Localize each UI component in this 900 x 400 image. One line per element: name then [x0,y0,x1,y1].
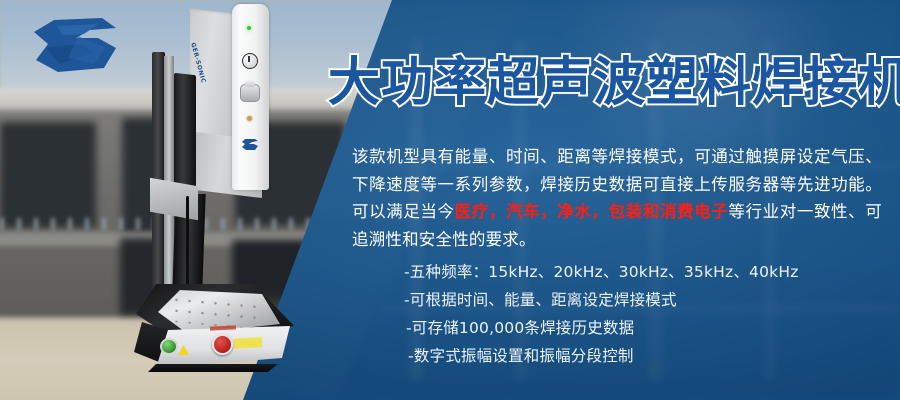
start-button[interactable] [160,338,178,355]
base-yellow-label [234,337,262,348]
machine-cable [186,196,189,296]
description-industries-highlight: 医疗，汽车，净水，包装和消费电子 [455,202,729,221]
list-item: -可根据时间、能量、距离设定焊接模式 [404,286,884,314]
product-description: 该款机型具有能量、时间、距离等焊接模式，可通过触摸屏设定气压、下降速度等一系列参… [352,143,882,253]
product-banner: GER-SONIC 大功率超声波塑料焊接机 大功率超声波塑料焊接机 [0,0,900,400]
ger-sonic-g-logo-icon-small [240,138,259,151]
machine-logo-badge [240,136,259,149]
list-item: -五种频率：15kHz、20kHz、30kHz、35kHz、40kHz [404,258,884,286]
feature-list: -五种频率：15kHz、20kHz、30kHz、35kHz、40kHz -可根据… [404,258,884,370]
list-item: -可存储100,000条焊接历史数据 [404,314,884,342]
company-logo [24,14,126,76]
adjustment-knob[interactable] [240,84,260,102]
panel-screw [247,116,252,121]
ger-sonic-g-logo-icon [24,14,126,76]
power-indicator-led [247,26,251,30]
building-window [0,122,96,228]
ultrasonic-welder-machine: GER-SONIC [128,0,313,400]
page-title: 大功率超声波塑料焊接机 [328,54,900,112]
list-item: -数字式振幅设置和振幅分段控制 [404,342,884,370]
emergency-stop-button[interactable] [212,334,233,355]
pressure-gauge-icon [242,53,258,69]
machine-foot [148,364,278,372]
